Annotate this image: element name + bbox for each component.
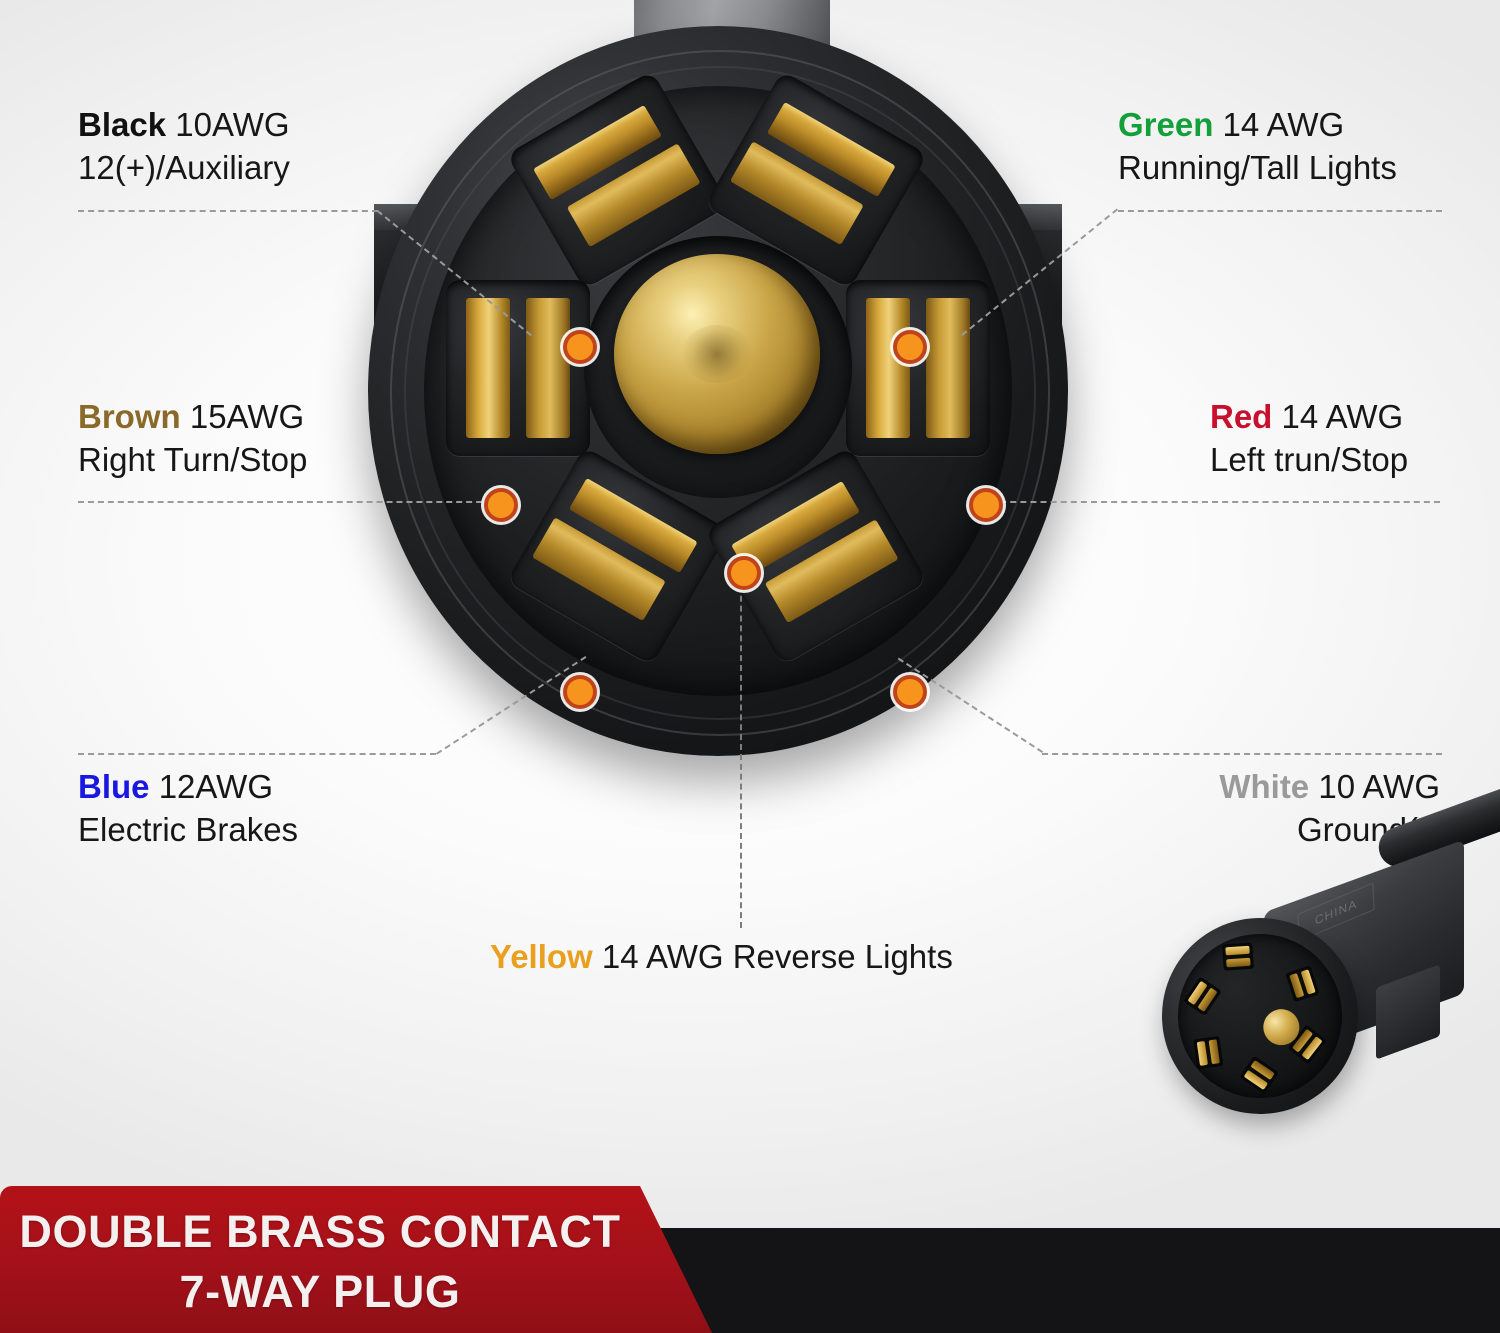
callout-gauge: 12AWG xyxy=(159,768,273,805)
marker-dot-white xyxy=(893,675,927,709)
callout-gauge: 14 AWG xyxy=(1223,106,1345,143)
callout-keyword: Black xyxy=(78,106,166,143)
marker-dot-brown xyxy=(484,488,518,522)
inset-socket-1 xyxy=(1222,943,1254,971)
inset-socket-2 xyxy=(1183,977,1221,1016)
banner-line-2: 7-WAY PLUG xyxy=(0,1266,640,1318)
marker-dot-red xyxy=(969,488,1003,522)
callout-yellow: Yellow 14 AWG Reverse Lights xyxy=(490,936,953,979)
marker-dot-blue xyxy=(563,675,597,709)
banner-line-1: DOUBLE BRASS CONTACT xyxy=(0,1206,640,1258)
inset-socket-6 xyxy=(1285,965,1319,1002)
contact-socket-brown xyxy=(446,280,590,456)
seven-way-plug-illustration xyxy=(338,0,1098,826)
callout-gauge: 15AWG xyxy=(190,398,304,435)
marker-dot-green xyxy=(893,330,927,364)
bottom-red-banner: DOUBLE BRASS CONTACT 7-WAY PLUG xyxy=(0,1186,712,1333)
leader-line-brown xyxy=(78,501,502,503)
callout-function: Running/Tall Lights xyxy=(1118,147,1397,190)
callout-brown: Brown 15AWG Right Turn/Stop xyxy=(78,396,307,482)
callout-gauge: 10AWG xyxy=(175,106,289,143)
leader-line-black-h xyxy=(78,210,378,212)
callout-keyword: Brown xyxy=(78,398,181,435)
leader-line-blue-h xyxy=(78,753,436,755)
leader-line-red xyxy=(980,501,1440,503)
leader-line-yellow-v xyxy=(740,576,742,928)
inset-socket-4 xyxy=(1240,1056,1279,1094)
callout-keyword: Blue xyxy=(78,768,150,805)
product-photo-inset: CHINA xyxy=(1148,852,1500,1152)
marker-dot-yellow xyxy=(727,556,761,590)
callout-black: Black 10AWG 12(+)/Auxiliary xyxy=(78,104,290,190)
callout-keyword: White xyxy=(1219,768,1309,805)
contact-socket-red xyxy=(846,280,990,456)
plug-face-inner xyxy=(1161,917,1360,1116)
callout-function: Left trun/Stop xyxy=(1210,439,1408,482)
leader-line-green-h xyxy=(1118,210,1442,212)
callout-keyword: Green xyxy=(1118,106,1213,143)
callout-gauge: 10 AWG xyxy=(1318,768,1440,805)
infographic-canvas: Black 10AWG 12(+)/Auxiliary Green 14 AWG… xyxy=(0,0,1500,1333)
marker-dot-black xyxy=(563,330,597,364)
center-brass-pin-yellow xyxy=(614,254,820,454)
callout-gauge: 14 AWG Reverse Lights xyxy=(602,938,953,975)
callout-function: 12(+)/Auxiliary xyxy=(78,147,290,190)
callout-gauge: 14 AWG xyxy=(1282,398,1404,435)
callout-blue: Blue 12AWG Electric Brakes xyxy=(78,766,298,852)
leader-line-white-h xyxy=(1042,753,1442,755)
callout-function: Right Turn/Stop xyxy=(78,439,307,482)
callout-function: Electric Brakes xyxy=(78,809,298,852)
callout-red: Red 14 AWG Left trun/Stop xyxy=(1210,396,1408,482)
inset-socket-3 xyxy=(1193,1036,1223,1069)
callout-keyword: Red xyxy=(1210,398,1272,435)
callout-keyword: Yellow xyxy=(490,938,593,975)
callout-green: Green 14 AWG Running/Tall Lights xyxy=(1118,104,1397,190)
